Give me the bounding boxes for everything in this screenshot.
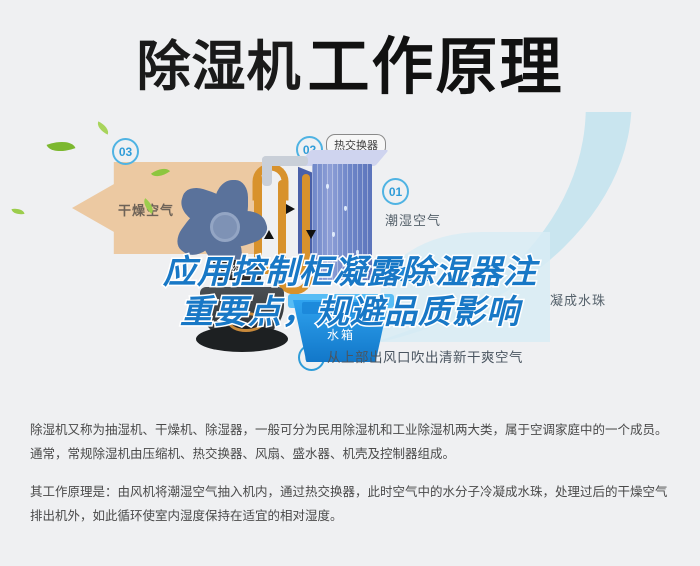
- step-badge-01-humid: 01: [382, 178, 409, 205]
- overlay-line-2: 重要点，规避品质影响: [0, 292, 700, 332]
- overlay-line-1: 应用控制柜凝露除湿器注: [0, 252, 700, 292]
- title-part-one: 除湿机: [136, 22, 301, 101]
- page-title: 除湿机 工作原理: [0, 18, 700, 104]
- water-drop-icon: [344, 206, 347, 211]
- article-body: 除湿机又称为抽湿机、干燥机、除湿器，一般可分为民用除湿机和工业除湿机两大类，属于…: [30, 418, 672, 542]
- body-paragraph-2: 其工作原理是：由风机将潮湿空气抽入机内，通过热交换器，此时空气中的水分子冷凝成水…: [30, 480, 672, 529]
- water-drop-icon: [326, 184, 329, 189]
- connector-pipe-icon: [262, 156, 308, 166]
- outlet-note-label: 从上部出风口吹出清新干爽空气: [327, 346, 523, 366]
- overlay-headline: 应用控制柜凝露除湿器注 重要点，规避品质影响: [0, 252, 700, 333]
- leaf-icon: [95, 121, 111, 134]
- flow-arrow-down-icon: [306, 230, 316, 239]
- body-paragraph-1: 除湿机又称为抽湿机、干燥机、除湿器，一般可分为民用除湿机和工业除湿机两大类，属于…: [30, 418, 672, 467]
- humid-air-label: 潮湿空气: [385, 210, 441, 229]
- leaf-icon: [47, 136, 76, 157]
- page-root: 除湿机 工作原理 干燥空气 03 02 01 03 热交换器 潮湿空气: [0, 0, 700, 566]
- leaf-icon: [11, 207, 24, 216]
- title-part-two: 工作原理: [307, 16, 563, 106]
- fan-hub-icon: [210, 212, 240, 242]
- step-badge-03-dry: 03: [112, 138, 139, 165]
- water-drop-icon: [332, 232, 335, 237]
- flow-arrow-right-icon: [286, 204, 295, 214]
